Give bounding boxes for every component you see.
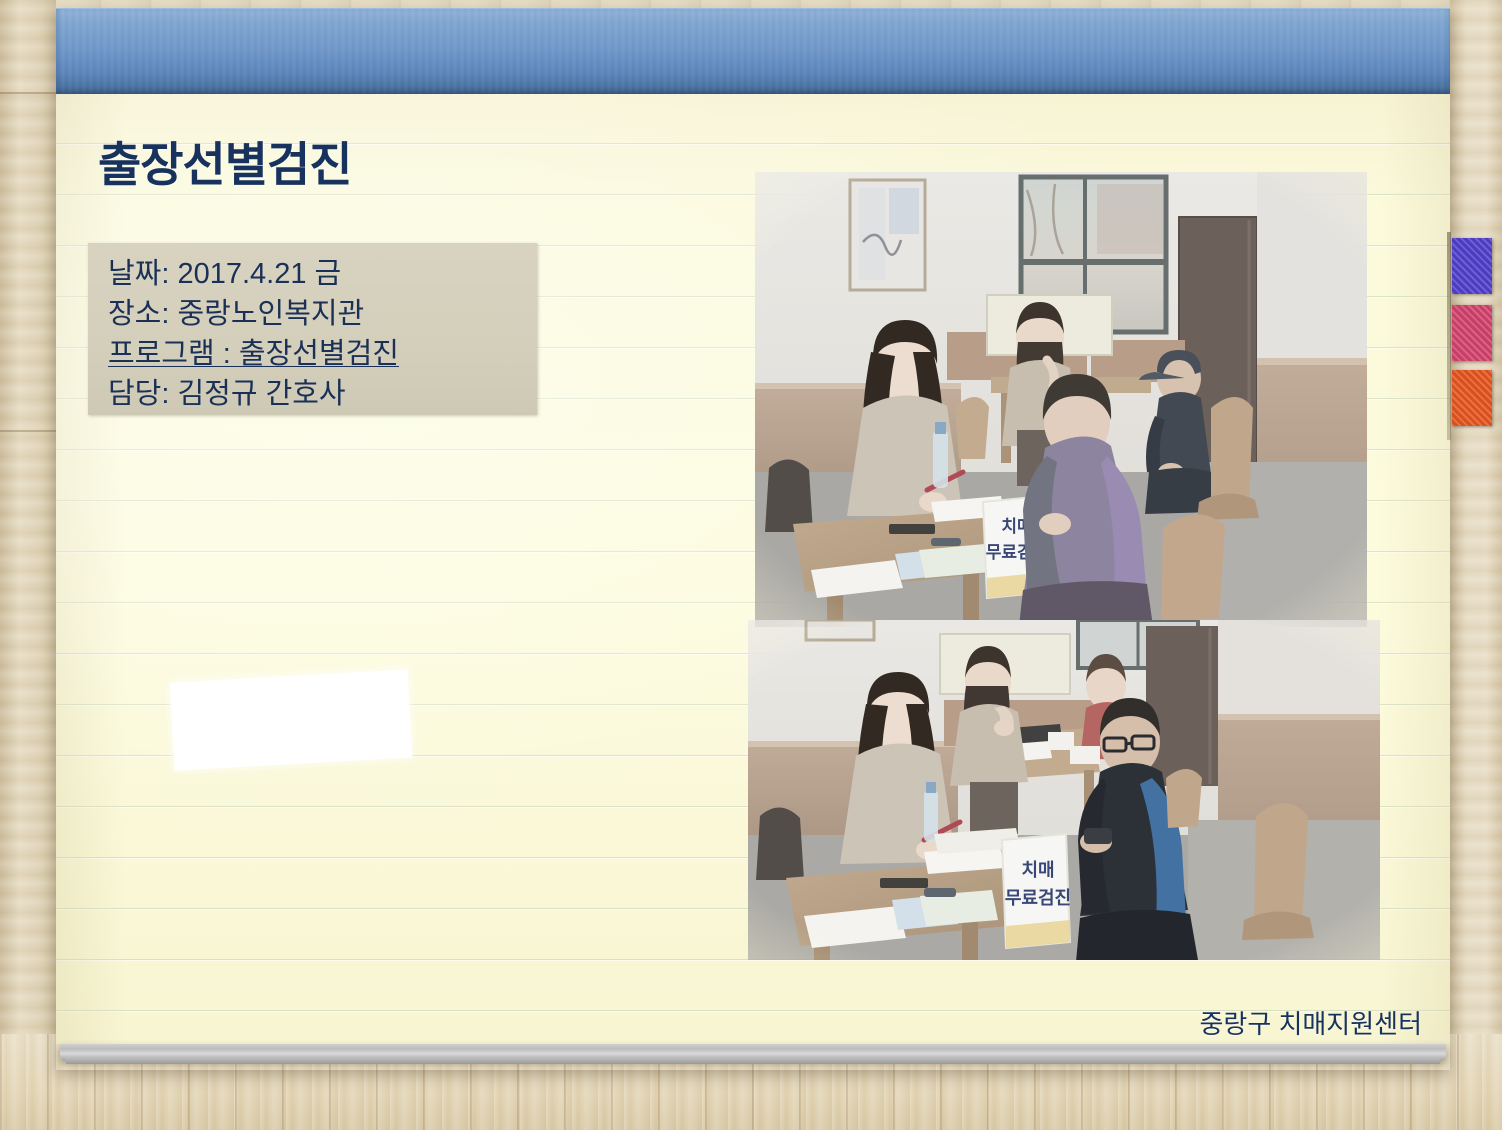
notepad-binder bbox=[56, 8, 1450, 95]
svg-text:무료검진: 무료검진 bbox=[1005, 888, 1071, 909]
tab-rail bbox=[1447, 232, 1451, 440]
screening-photo-top: 치매 무료검진 bbox=[755, 172, 1367, 627]
footer-organization: 중랑구 치매지원센터 bbox=[1199, 1004, 1422, 1041]
screening-photo-bottom: 치매 무료검진 bbox=[748, 620, 1380, 960]
photo-bottom-scene: 치매 무료검진 bbox=[748, 620, 1380, 960]
info-box: 날짜: 2017.4.21 금 장소: 중랑노인복지관 프로그램 : 출장선별검… bbox=[88, 243, 537, 415]
wood-seam bbox=[0, 430, 56, 432]
svg-text:치매: 치매 bbox=[1021, 860, 1054, 881]
info-date: 날짜: 2017.4.21 금 bbox=[108, 254, 529, 294]
tab-pink[interactable] bbox=[1452, 305, 1492, 361]
wood-frame-left bbox=[0, 0, 56, 1130]
photo-top-scene: 치매 무료검진 bbox=[755, 172, 1367, 627]
tab-orange[interactable] bbox=[1452, 370, 1492, 426]
info-place: 장소: 중랑노인복지관 bbox=[108, 294, 529, 334]
paper-stack-edge2 bbox=[66, 1058, 1440, 1064]
blank-white-note bbox=[170, 669, 413, 770]
page-title: 출장선별검진 bbox=[98, 126, 351, 195]
tab-orange-hatch bbox=[1452, 370, 1492, 426]
tab-pink-hatch bbox=[1452, 305, 1492, 361]
info-staff: 담당: 김정규 간호사 bbox=[108, 374, 529, 414]
wood-frame-right bbox=[1450, 0, 1502, 1130]
tab-blue[interactable] bbox=[1452, 238, 1492, 294]
wood-seam bbox=[0, 92, 56, 94]
tab-blue-hatch bbox=[1452, 238, 1492, 294]
slide-canvas: 출장선별검진 날짜: 2017.4.21 금 장소: 중랑노인복지관 프로그램 … bbox=[0, 0, 1502, 1130]
info-program: 프로그램 : 출장선별검진 bbox=[108, 334, 529, 374]
